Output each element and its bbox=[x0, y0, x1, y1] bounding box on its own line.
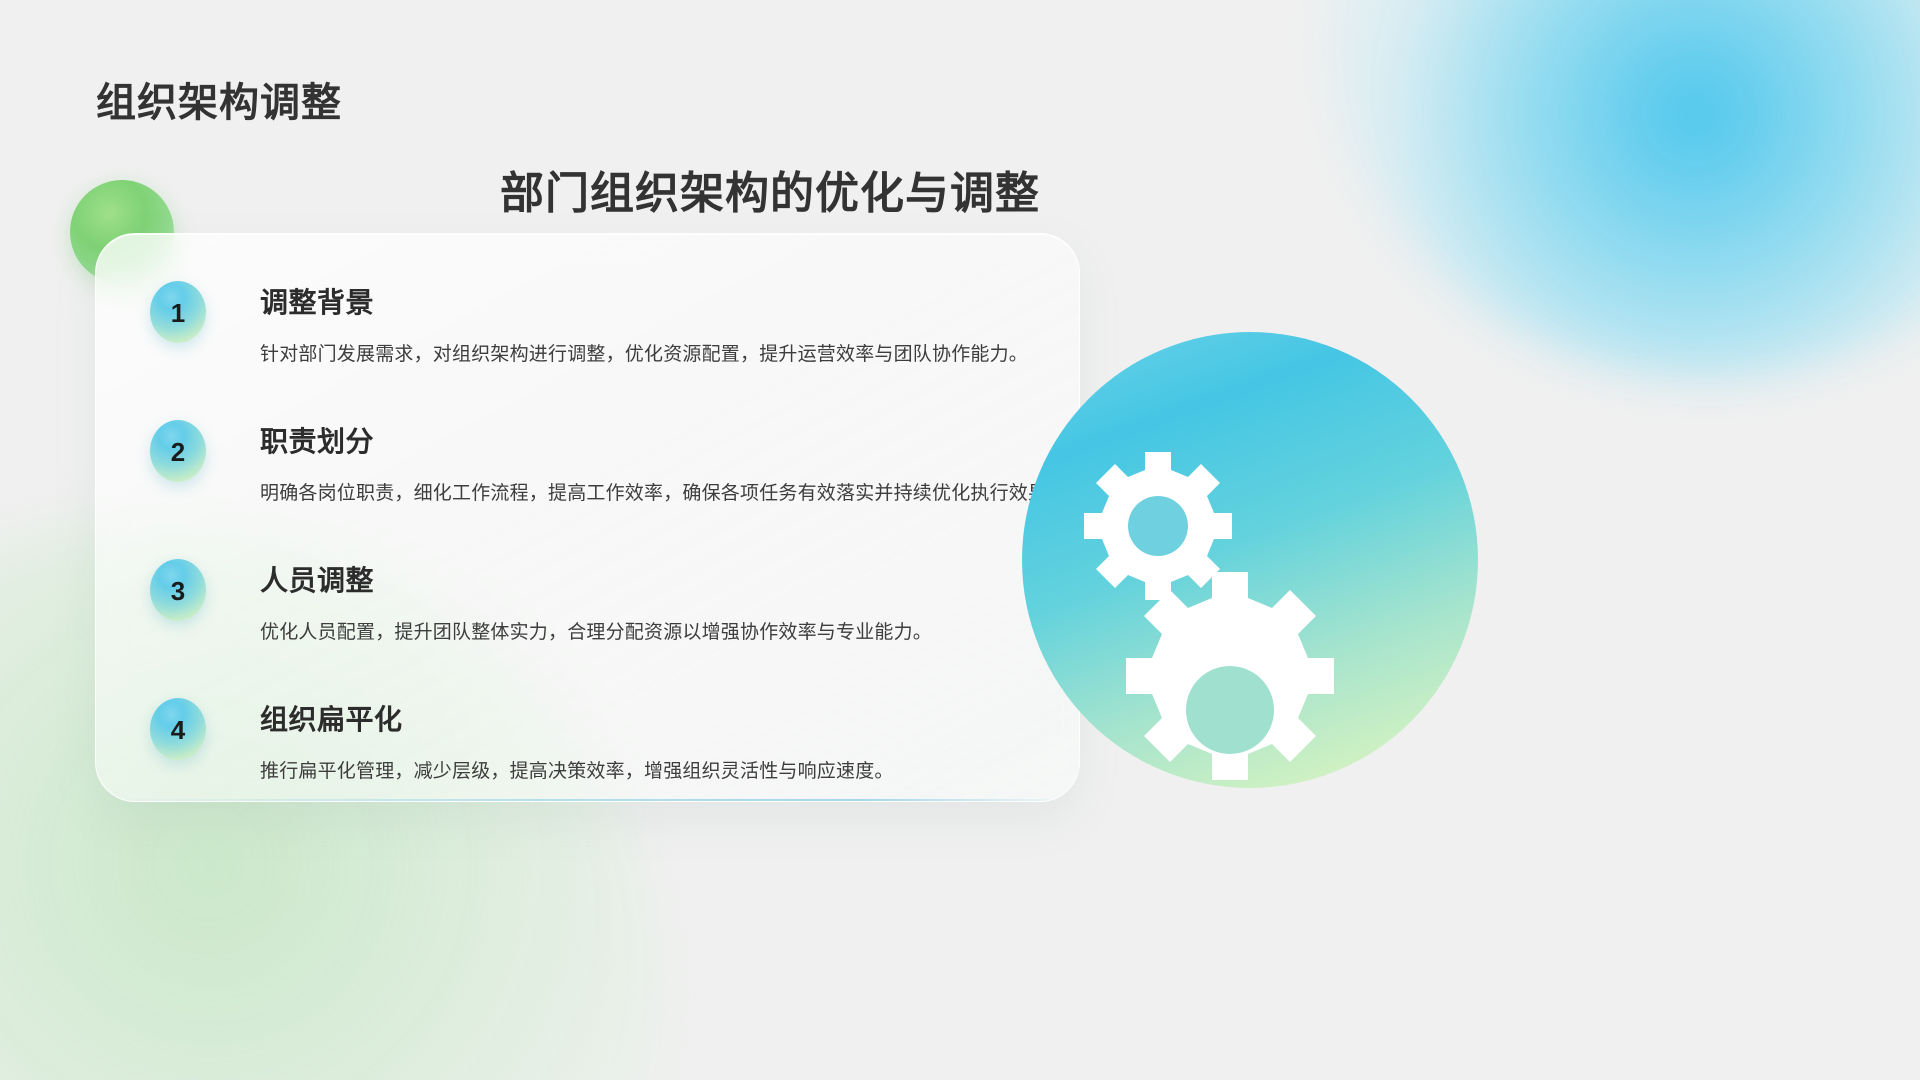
list-item[interactable]: 1 调整背景 针对部门发展需求，对组织架构进行调整，优化资源配置，提升运营效率与… bbox=[150, 281, 1050, 416]
item-body: 职责划分 明确各岗位职责，细化工作流程，提高工作效率，确保各项任务有效落实并持续… bbox=[150, 420, 1050, 505]
feature-list: 1 调整背景 针对部门发展需求，对组织架构进行调整，优化资源配置，提升运营效率与… bbox=[150, 277, 1050, 833]
decorative-blob-top-right bbox=[1330, 0, 1920, 380]
item-title: 职责划分 bbox=[260, 420, 1050, 460]
item-description: 优化人员配置，提升团队整体实力，合理分配资源以增强协作效率与专业能力。 bbox=[260, 617, 1050, 644]
item-number-badge: 1 bbox=[150, 281, 206, 343]
gears-icon bbox=[1022, 332, 1478, 788]
item-number: 3 bbox=[171, 578, 185, 604]
item-body: 组织扁平化 推行扁平化管理，减少层级，提高决策效率，增强组织灵活性与响应速度。 bbox=[150, 698, 1050, 783]
item-title: 调整背景 bbox=[260, 281, 1050, 321]
item-title: 组织扁平化 bbox=[260, 698, 1050, 738]
list-item[interactable]: 4 组织扁平化 推行扁平化管理，减少层级，提高决策效率，增强组织灵活性与响应速度… bbox=[150, 698, 1050, 833]
item-description: 针对部门发展需求，对组织架构进行调整，优化资源配置，提升运营效率与团队协作能力。 bbox=[260, 339, 1050, 366]
item-number: 4 bbox=[171, 717, 185, 743]
item-number-badge: 4 bbox=[150, 698, 206, 760]
list-item[interactable]: 3 人员调整 优化人员配置，提升团队整体实力，合理分配资源以增强协作效率与专业能… bbox=[150, 559, 1050, 694]
slide-kicker-title: 组织架构调整 bbox=[96, 70, 342, 128]
item-title: 人员调整 bbox=[260, 559, 1050, 599]
page-title: 部门组织架构的优化与调整 bbox=[500, 157, 1040, 221]
item-number-badge: 3 bbox=[150, 559, 206, 621]
gear-illustration-circle bbox=[1022, 332, 1478, 788]
item-number: 1 bbox=[171, 300, 185, 326]
item-body: 人员调整 优化人员配置，提升团队整体实力，合理分配资源以增强协作效率与专业能力。 bbox=[150, 559, 1050, 644]
item-number-badge: 2 bbox=[150, 420, 206, 482]
item-description: 推行扁平化管理，减少层级，提高决策效率，增强组织灵活性与响应速度。 bbox=[260, 756, 1050, 783]
slide-canvas: 组织架构调整 部门组织架构的优化与调整 1 调整背景 针对部门发展需求，对组织架… bbox=[0, 0, 1920, 1080]
item-description: 明确各岗位职责，细化工作流程，提高工作效率，确保各项任务有效落实并持续优化执行效… bbox=[260, 478, 1050, 505]
list-item[interactable]: 2 职责划分 明确各岗位职责，细化工作流程，提高工作效率，确保各项任务有效落实并… bbox=[150, 420, 1050, 555]
item-number: 2 bbox=[171, 439, 185, 465]
item-body: 调整背景 针对部门发展需求，对组织架构进行调整，优化资源配置，提升运营效率与团队… bbox=[150, 281, 1050, 366]
